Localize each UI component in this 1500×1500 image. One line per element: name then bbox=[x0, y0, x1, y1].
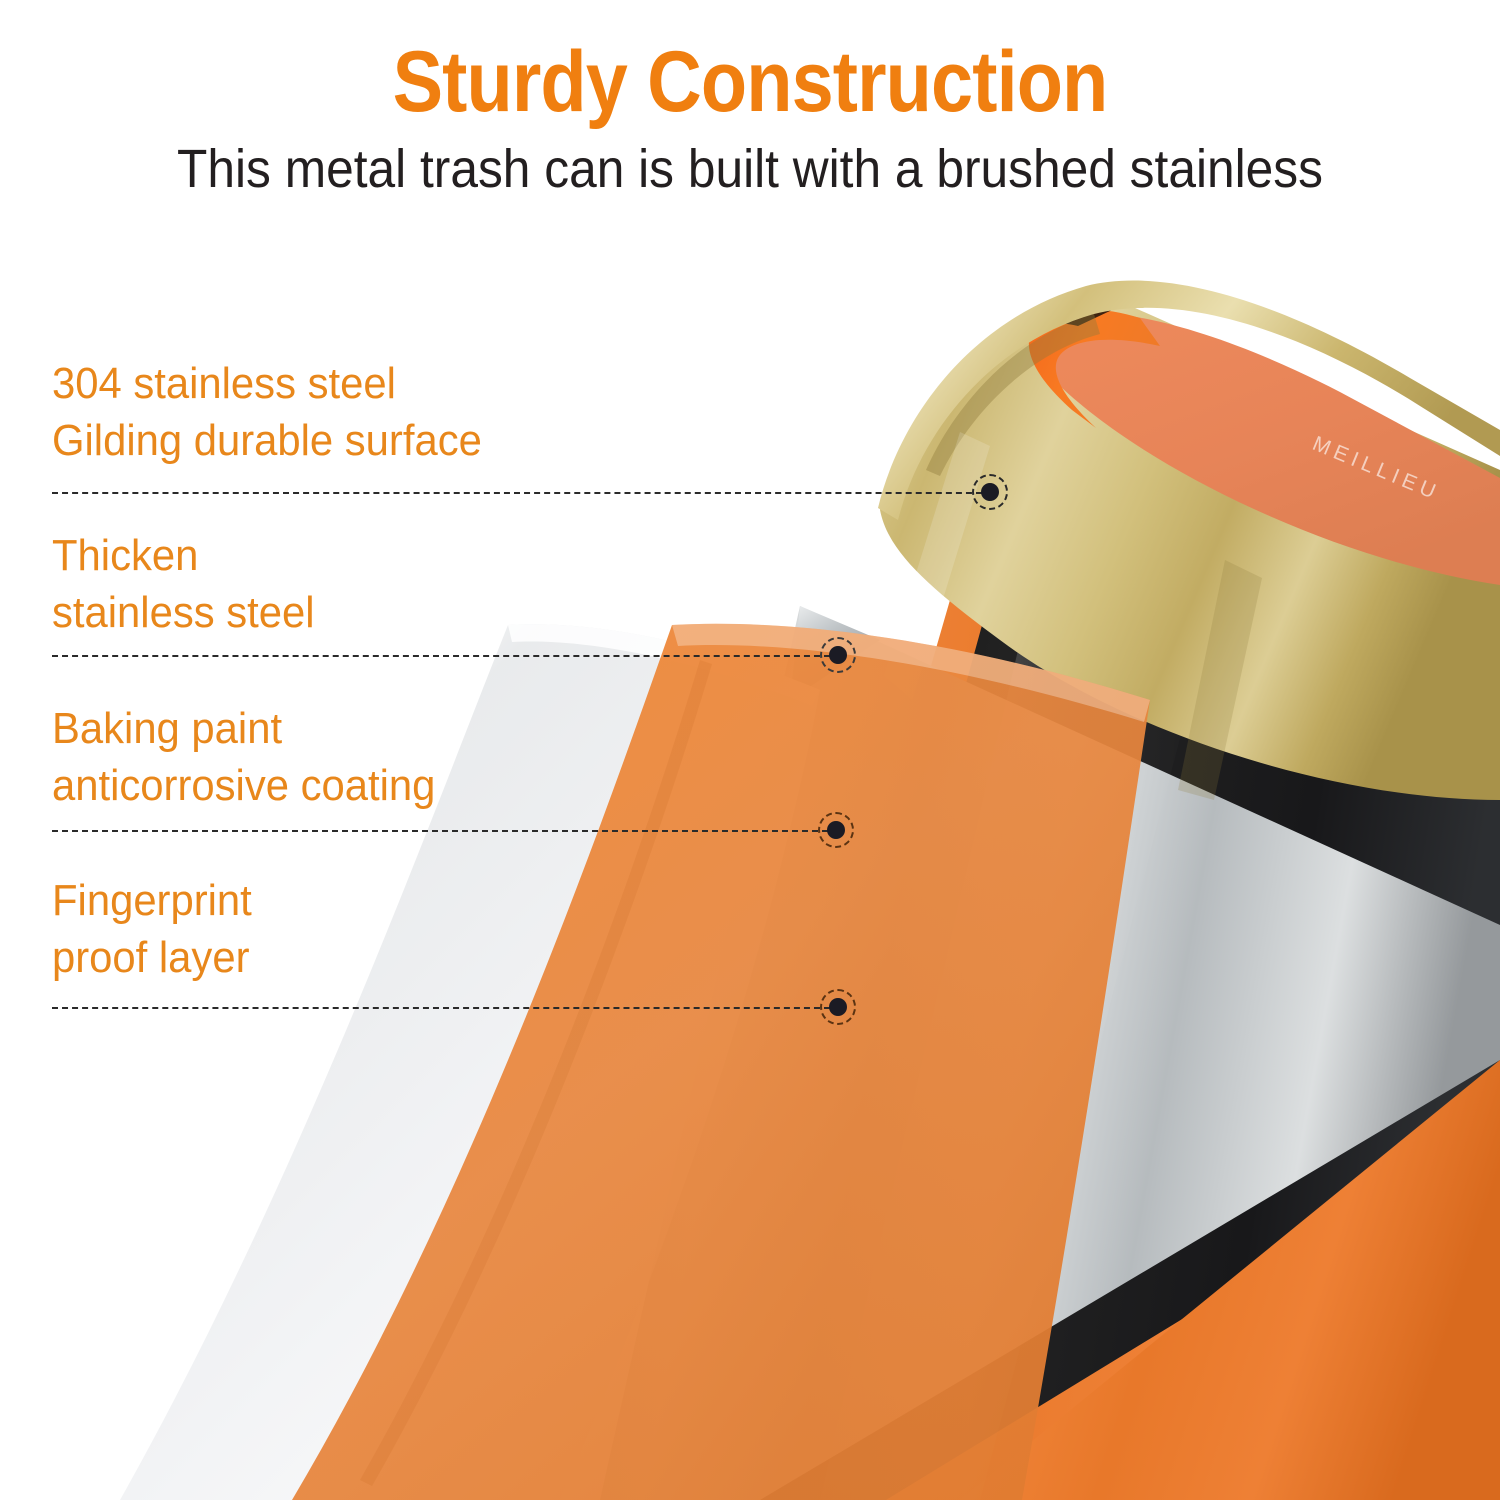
leader-line-gilding bbox=[52, 492, 982, 494]
callout-dot-icon bbox=[972, 474, 1008, 510]
callout-dot-icon bbox=[820, 637, 856, 673]
leader-line-baking-paint bbox=[52, 830, 828, 832]
infographic-canvas: MEILLIEU Sturdy Construction This metal … bbox=[0, 0, 1500, 1500]
leader-line-fingerprint bbox=[52, 1007, 830, 1009]
callout-dot-icon bbox=[820, 989, 856, 1025]
leader-line-thicken bbox=[52, 655, 830, 657]
page-subtitle: This metal trash can is built with a bru… bbox=[60, 127, 1440, 198]
callout-label: 304 stainless steel Gilding durable surf… bbox=[52, 355, 660, 469]
header: Sturdy Construction This metal trash can… bbox=[0, 0, 1500, 198]
callout-dot-icon bbox=[818, 812, 854, 848]
callout-fingerprint: Fingerprint proof layer bbox=[52, 872, 692, 986]
callout-label: Baking paint anticorrosive coating bbox=[52, 700, 660, 814]
callout-thicken: Thicken stainless steel bbox=[52, 527, 692, 641]
callout-label: Thicken stainless steel bbox=[52, 527, 660, 641]
callout-baking-paint: Baking paint anticorrosive coating bbox=[52, 700, 692, 814]
page-title: Sturdy Construction bbox=[90, 0, 1410, 127]
callout-gilding: 304 stainless steel Gilding durable surf… bbox=[52, 355, 692, 469]
callout-label: Fingerprint proof layer bbox=[52, 872, 660, 986]
